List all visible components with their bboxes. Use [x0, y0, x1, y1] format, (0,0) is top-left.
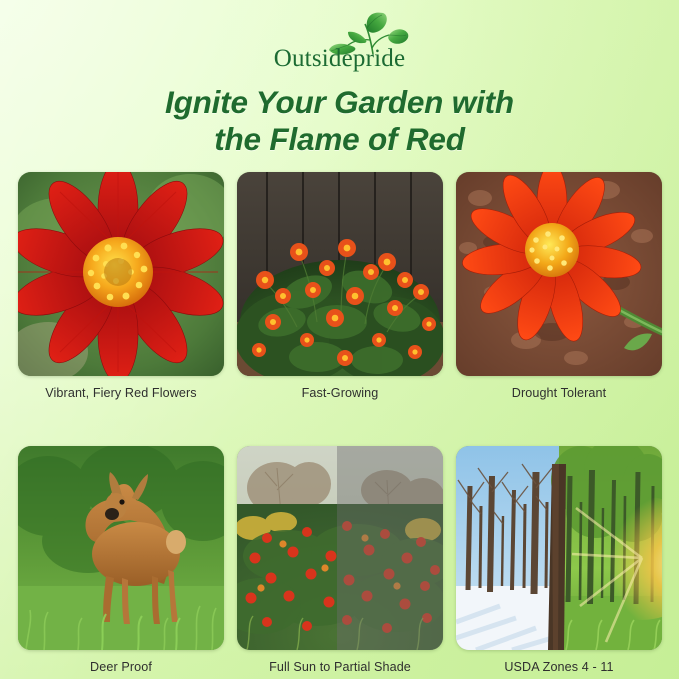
feature-grid: Vibrant, Fiery Red Flowers: [18, 172, 662, 674]
feature-cell: Fast-Growing: [237, 172, 443, 400]
flower-dry-soil-photo: [456, 172, 662, 376]
winter-summer-forest-photo: [456, 446, 662, 650]
red-flower-closeup-photo: [18, 172, 224, 376]
feature-caption: Deer Proof: [18, 660, 224, 674]
feature-row: Deer Proof: [18, 446, 662, 674]
feature-caption: Vibrant, Fiery Red Flowers: [18, 386, 224, 400]
feature-cell: Drought Tolerant: [456, 172, 662, 400]
infographic-page: Outsidepride Ignite Your Garden with the…: [0, 0, 679, 679]
page-title: Ignite Your Garden with the Flame of Red: [0, 84, 679, 158]
feature-caption: Drought Tolerant: [456, 386, 662, 400]
feature-cell: USDA Zones 4 - 11: [456, 446, 662, 674]
feature-cell: Full Sun to Partial Shade: [237, 446, 443, 674]
headline-line-2: the Flame of Red: [0, 121, 679, 158]
brand-name: Outsidepride: [274, 46, 406, 71]
brand-logo: Outsidepride: [0, 12, 679, 71]
flowering-bush-fence-photo: [237, 172, 443, 376]
feature-row: Vibrant, Fiery Red Flowers: [18, 172, 662, 400]
deer-in-grass-photo: [18, 446, 224, 650]
feature-cell: Vibrant, Fiery Red Flowers: [18, 172, 224, 400]
feature-caption: USDA Zones 4 - 11: [456, 660, 662, 674]
feature-caption: Fast-Growing: [237, 386, 443, 400]
feature-caption: Full Sun to Partial Shade: [237, 660, 443, 674]
feature-cell: Deer Proof: [18, 446, 224, 674]
headline-line-1: Ignite Your Garden with: [165, 84, 514, 120]
sun-shade-garden-photo: [237, 446, 443, 650]
